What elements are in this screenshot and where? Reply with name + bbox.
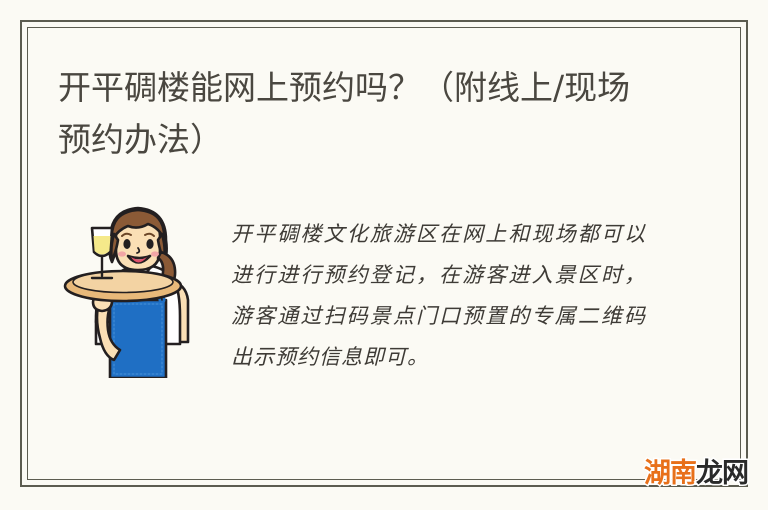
waitress-with-tray-illustration [62, 196, 208, 378]
page-title: 开平碉楼能网上预约吗？（附线上/现场预约办法） [58, 62, 658, 166]
watermark-part-2: 龙网 [696, 458, 748, 489]
article-body: 开平碉楼文化旅游区在网上和现场都可以进行进行预约登记，在游客进入景区时，游客通过… [231, 214, 646, 378]
site-watermark: 湖南龙网 [644, 459, 748, 489]
watermark-part-1: 湖南 [644, 458, 696, 489]
